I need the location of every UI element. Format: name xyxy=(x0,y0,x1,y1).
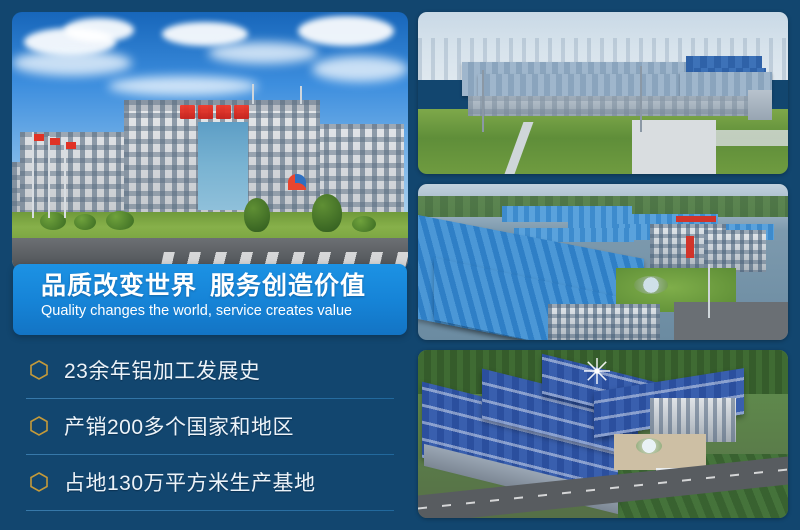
low-office-building xyxy=(548,304,660,340)
light-pole xyxy=(708,264,710,318)
shrub xyxy=(352,216,376,232)
company-headquarters-photo xyxy=(12,12,408,270)
slogan-banner: 品质改变世界服务创造价值 Quality changes the world, … xyxy=(13,264,407,335)
red-signage xyxy=(676,216,716,222)
list-item-label: 产销200多个国家和地区 xyxy=(64,411,294,441)
glass-curtain-wall xyxy=(198,122,248,210)
cloud-shape xyxy=(108,76,258,96)
parking-lot xyxy=(632,120,716,174)
hexagon-icon xyxy=(26,357,52,383)
slogan-chinese-part1: 品质改变世界 xyxy=(41,272,197,300)
power-pylon xyxy=(640,66,642,132)
red-banner xyxy=(686,236,694,258)
window-grid xyxy=(468,96,758,116)
sparkle-icon xyxy=(584,358,610,384)
flag xyxy=(50,138,60,145)
slogan-chinese: 品质改变世界服务创造价值 xyxy=(41,271,407,301)
power-pylon xyxy=(482,70,484,132)
slogan-english: Quality changes the world, service creat… xyxy=(41,302,407,321)
factory-3d-rendering-photo xyxy=(418,350,788,518)
entrance-plaza xyxy=(614,434,706,470)
shrub xyxy=(74,214,96,230)
list-item: 占地130万平方米生产基地 xyxy=(12,454,408,510)
hexagon-icon xyxy=(26,469,52,495)
list-item: 产销200多个国家和地区 xyxy=(12,398,408,454)
flagpole xyxy=(32,132,34,218)
main-office-building xyxy=(124,100,320,218)
antenna-mast xyxy=(300,86,302,104)
cloud-shape xyxy=(64,18,134,42)
flagpole xyxy=(64,140,66,218)
roof-signage-chinese xyxy=(180,104,260,120)
left-column: 品质改变世界服务创造价值 Quality changes the world, … xyxy=(12,12,408,518)
company-logo-emblem xyxy=(288,174,306,190)
list-item: 23余年铝加工发展史 xyxy=(12,342,408,398)
tree xyxy=(312,194,342,232)
cloud-shape xyxy=(312,56,408,82)
right-column xyxy=(418,12,788,518)
highlights-list: 23余年铝加工发展史 产销200多个国家和地区 占地130万平方米生 xyxy=(12,342,408,510)
road-surface xyxy=(674,302,788,340)
fountain xyxy=(636,438,662,454)
promotional-banner-page: 品质改变世界服务创造价值 Quality changes the world, … xyxy=(0,0,800,530)
factory-wall xyxy=(468,96,758,116)
hexagon-icon xyxy=(26,413,52,439)
window-grid xyxy=(548,304,660,340)
slogan-chinese-part2: 服务创造价值 xyxy=(210,272,366,300)
flagpole xyxy=(48,136,50,218)
list-item-label: 占地130万平方米生产基地 xyxy=(64,467,316,497)
cloud-shape xyxy=(12,50,132,76)
factory-wall xyxy=(748,90,772,120)
shrub xyxy=(40,212,66,230)
flag xyxy=(66,142,76,149)
cloud-shape xyxy=(298,16,394,46)
shrub xyxy=(106,211,134,230)
cloud-shape xyxy=(208,42,318,64)
window-grid xyxy=(704,230,766,272)
tree xyxy=(244,198,270,232)
office-building xyxy=(704,230,766,272)
parking-lot xyxy=(716,130,788,146)
flag xyxy=(34,134,44,141)
factory-workshops-photo xyxy=(418,184,788,340)
antenna-mast xyxy=(252,84,254,104)
list-separator xyxy=(26,510,394,511)
cloud-shape xyxy=(162,22,248,46)
fountain xyxy=(634,276,668,294)
list-item-label: 23余年铝加工发展史 xyxy=(64,355,260,385)
aerial-factory-overview-photo xyxy=(418,12,788,174)
